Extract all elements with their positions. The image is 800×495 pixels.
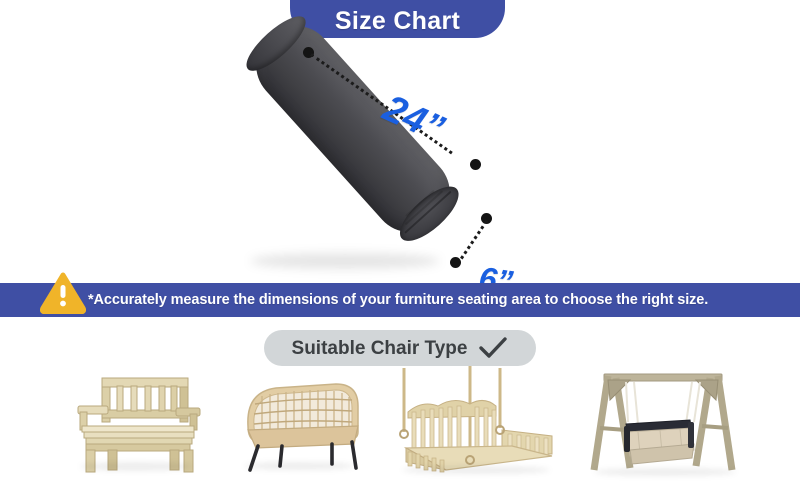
- suitable-chair-type-pill: Suitable Chair Type: [264, 330, 536, 366]
- suitable-chair-type-label: Suitable Chair Type: [292, 339, 468, 358]
- measurement-notice-text: *Accurately measure the dimensions of yo…: [88, 292, 708, 308]
- warning-triangle-icon: [40, 272, 86, 314]
- suitable-furniture-list: [0, 366, 800, 491]
- furniture-item-wooden-garden-bench: [72, 366, 202, 486]
- measurement-notice-banner: *Accurately measure the dimensions of yo…: [0, 283, 800, 317]
- furniture-item-wooden-porch-swing-bed: [392, 366, 562, 486]
- rattan-sofa-bench-image: [236, 366, 366, 476]
- diameter-dimension-line: [457, 220, 489, 265]
- size-chart-page: Size Chart 24” 6” *Accurately measure th…: [0, 0, 800, 495]
- size-chart-tab: Size Chart: [290, 0, 505, 38]
- furniture-shadow: [244, 462, 354, 470]
- product-illustration: 24” 6”: [0, 38, 800, 283]
- product-shadow: [250, 253, 440, 269]
- furniture-item-a-frame-porch-swing: [586, 366, 746, 486]
- wooden-garden-bench-image: [72, 366, 202, 476]
- furniture-shadow: [594, 468, 736, 476]
- check-icon: [478, 336, 508, 360]
- length-dimension-end-dot: [470, 159, 481, 170]
- furniture-shadow: [402, 466, 550, 474]
- furniture-shadow: [80, 462, 192, 471]
- size-chart-title: Size Chart: [335, 9, 460, 34]
- furniture-item-rattan-sofa-bench: [236, 366, 366, 486]
- diameter-dimension-end-dot: [450, 257, 461, 268]
